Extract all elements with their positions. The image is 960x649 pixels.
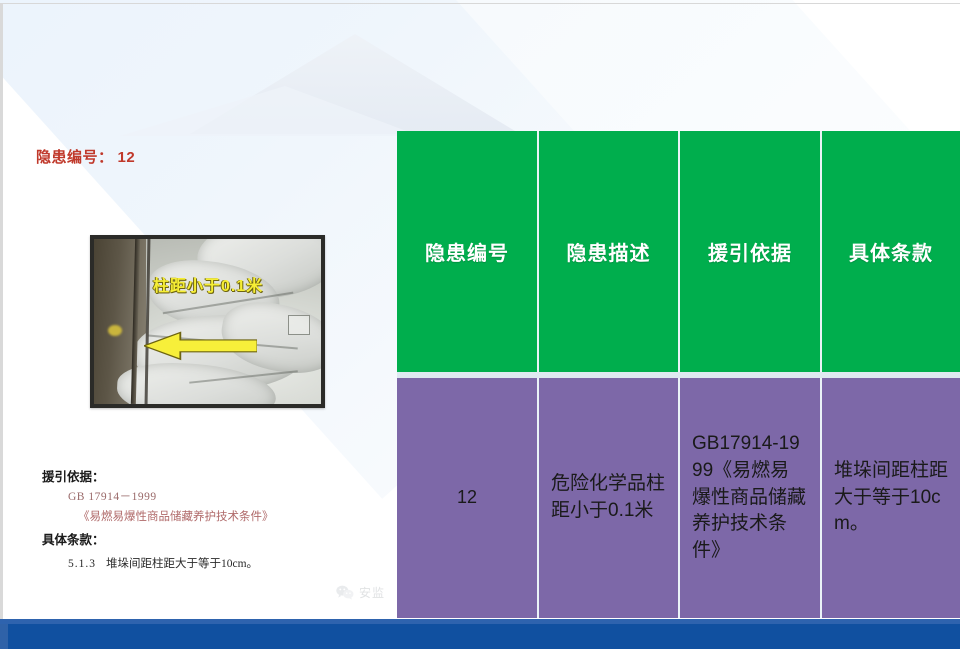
slide-left-edge bbox=[0, 4, 3, 624]
photo-label-tag bbox=[288, 315, 310, 335]
table-header-row: 隐患编号 隐患描述 援引依据 具体条款 bbox=[397, 131, 960, 372]
table-header-label: 具体条款 bbox=[849, 237, 933, 266]
table-header-label: 援引依据 bbox=[708, 237, 792, 266]
photo-yellow-object bbox=[108, 325, 122, 336]
hazard-id-label: 隐患编号： bbox=[36, 149, 114, 166]
citation-standard-title: 《易燃易爆性商品储藏养护技术条件》 bbox=[78, 509, 362, 526]
table-cell-hazard-no: 12 bbox=[397, 378, 537, 618]
table-header-cell-description: 隐患描述 bbox=[537, 131, 678, 372]
citation-clause-number: 5.1.3 bbox=[68, 558, 96, 570]
left-arrow-icon bbox=[144, 331, 258, 361]
slide-top-edge bbox=[0, 3, 960, 4]
hazard-photo: 柱距小于0.1米 bbox=[90, 235, 325, 408]
hazard-id-line: 隐患编号：12 bbox=[36, 146, 135, 167]
photo-caption: 柱距小于0.1米 bbox=[153, 272, 263, 296]
bottom-bar-notch bbox=[0, 624, 8, 649]
citation-clause-heading: 具体条款： bbox=[42, 531, 362, 549]
table-cell-basis: GB17914-1999《易燃易爆性商品储藏养护技术条件》 bbox=[678, 378, 820, 618]
hazard-photo-image: 柱距小于0.1米 bbox=[94, 239, 321, 404]
table-cell-description: 危险化学品柱距小于0.1米 bbox=[537, 378, 678, 618]
table-cell-value: 危险化学品柱距小于0.1米 bbox=[551, 471, 666, 525]
hazard-table: 隐患编号 隐患描述 援引依据 具体条款 12 危险化学品柱距小于0.1米 GB1… bbox=[397, 131, 960, 618]
citation-clause-text: 堆垛间距柱距大于等于10cm。 bbox=[106, 558, 258, 570]
table-header-cell-hazard-no: 隐患编号 bbox=[397, 131, 537, 372]
citation-block: 援引依据： GB 17914－1999 《易燃易爆性商品储藏养护技术条件》 具体… bbox=[42, 468, 362, 572]
citation-clause: 5.1.3堆垛间距柱距大于等于10cm。 bbox=[68, 556, 362, 573]
table-header-cell-clause: 具体条款 bbox=[820, 131, 960, 372]
table-cell-value: GB17914-1999《易燃易爆性商品储藏养护技术条件》 bbox=[692, 431, 808, 566]
table-header-cell-basis: 援引依据 bbox=[678, 131, 820, 372]
table-cell-value: 堆垛间距柱距大于等于10cm。 bbox=[834, 458, 948, 539]
table-row: 12 危险化学品柱距小于0.1米 GB17914-1999《易燃易爆性商品储藏养… bbox=[397, 378, 960, 618]
hazard-id-value: 12 bbox=[118, 149, 136, 166]
table-header-label: 隐患编号 bbox=[425, 237, 509, 266]
table-header-label: 隐患描述 bbox=[567, 237, 651, 266]
bottom-bar bbox=[0, 624, 960, 649]
table-cell-clause: 堆垛间距柱距大于等于10cm。 bbox=[820, 378, 960, 618]
slide-root: 隐患编号：12 柱距小于0.1米 援引依据： bbox=[0, 0, 960, 649]
citation-basis-heading: 援引依据： bbox=[42, 468, 362, 486]
table-cell-value: 12 bbox=[457, 485, 477, 511]
citation-standard-code: GB 17914－1999 bbox=[68, 489, 362, 506]
